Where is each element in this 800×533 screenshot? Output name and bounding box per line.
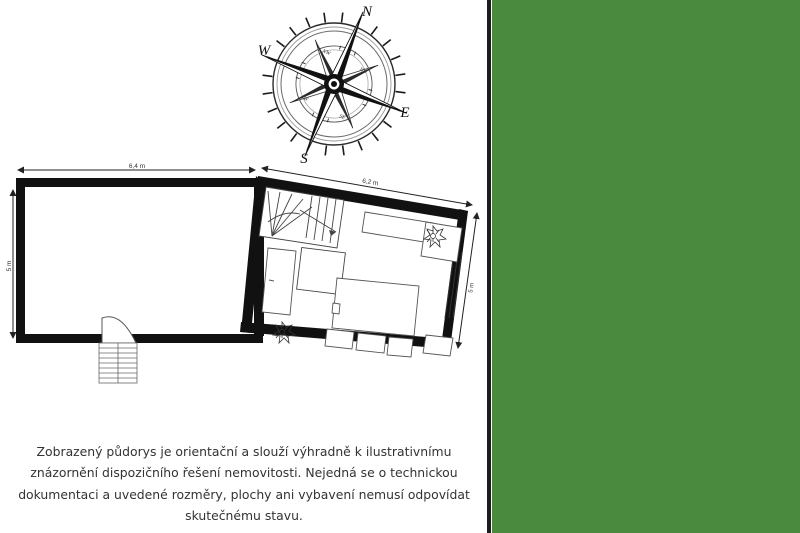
floorplan-listing-image: 6,4 m 5 m 6,2 m 5 m: [0, 0, 800, 533]
nightstand-left: [325, 329, 354, 349]
sofa: [262, 248, 296, 315]
info-panel: M&M REALITY M&M REALITY Prodej rodinného…: [492, 0, 800, 533]
exterior-stairs: [99, 343, 137, 383]
dimension-label-left-height: 5 m: [6, 261, 13, 272]
entry-door: [102, 317, 136, 343]
dimension-label-right-height: 5 m: [468, 282, 475, 293]
compass-label-north: N: [361, 4, 373, 20]
left-room-walls: [16, 178, 263, 343]
compass-label-south: S: [300, 151, 308, 167]
nightstand-right: [356, 333, 386, 353]
compass-label-west: W: [258, 43, 272, 59]
compass-rose: NW NE SW SE N E S W: [252, 2, 417, 167]
disclaimer-text: Zobrazený půdorys je orientační a slouží…: [10, 441, 478, 526]
panel-divider: [487, 0, 491, 533]
bed: [332, 278, 419, 336]
dimension-label-left-width: 6,4 m: [129, 163, 145, 170]
bench-foot: [387, 337, 413, 357]
floorplan-panel: 6,4 m 5 m 6,2 m 5 m: [0, 0, 488, 533]
compass-label-sw: SW: [300, 95, 309, 103]
compass-label-east: E: [399, 105, 409, 121]
